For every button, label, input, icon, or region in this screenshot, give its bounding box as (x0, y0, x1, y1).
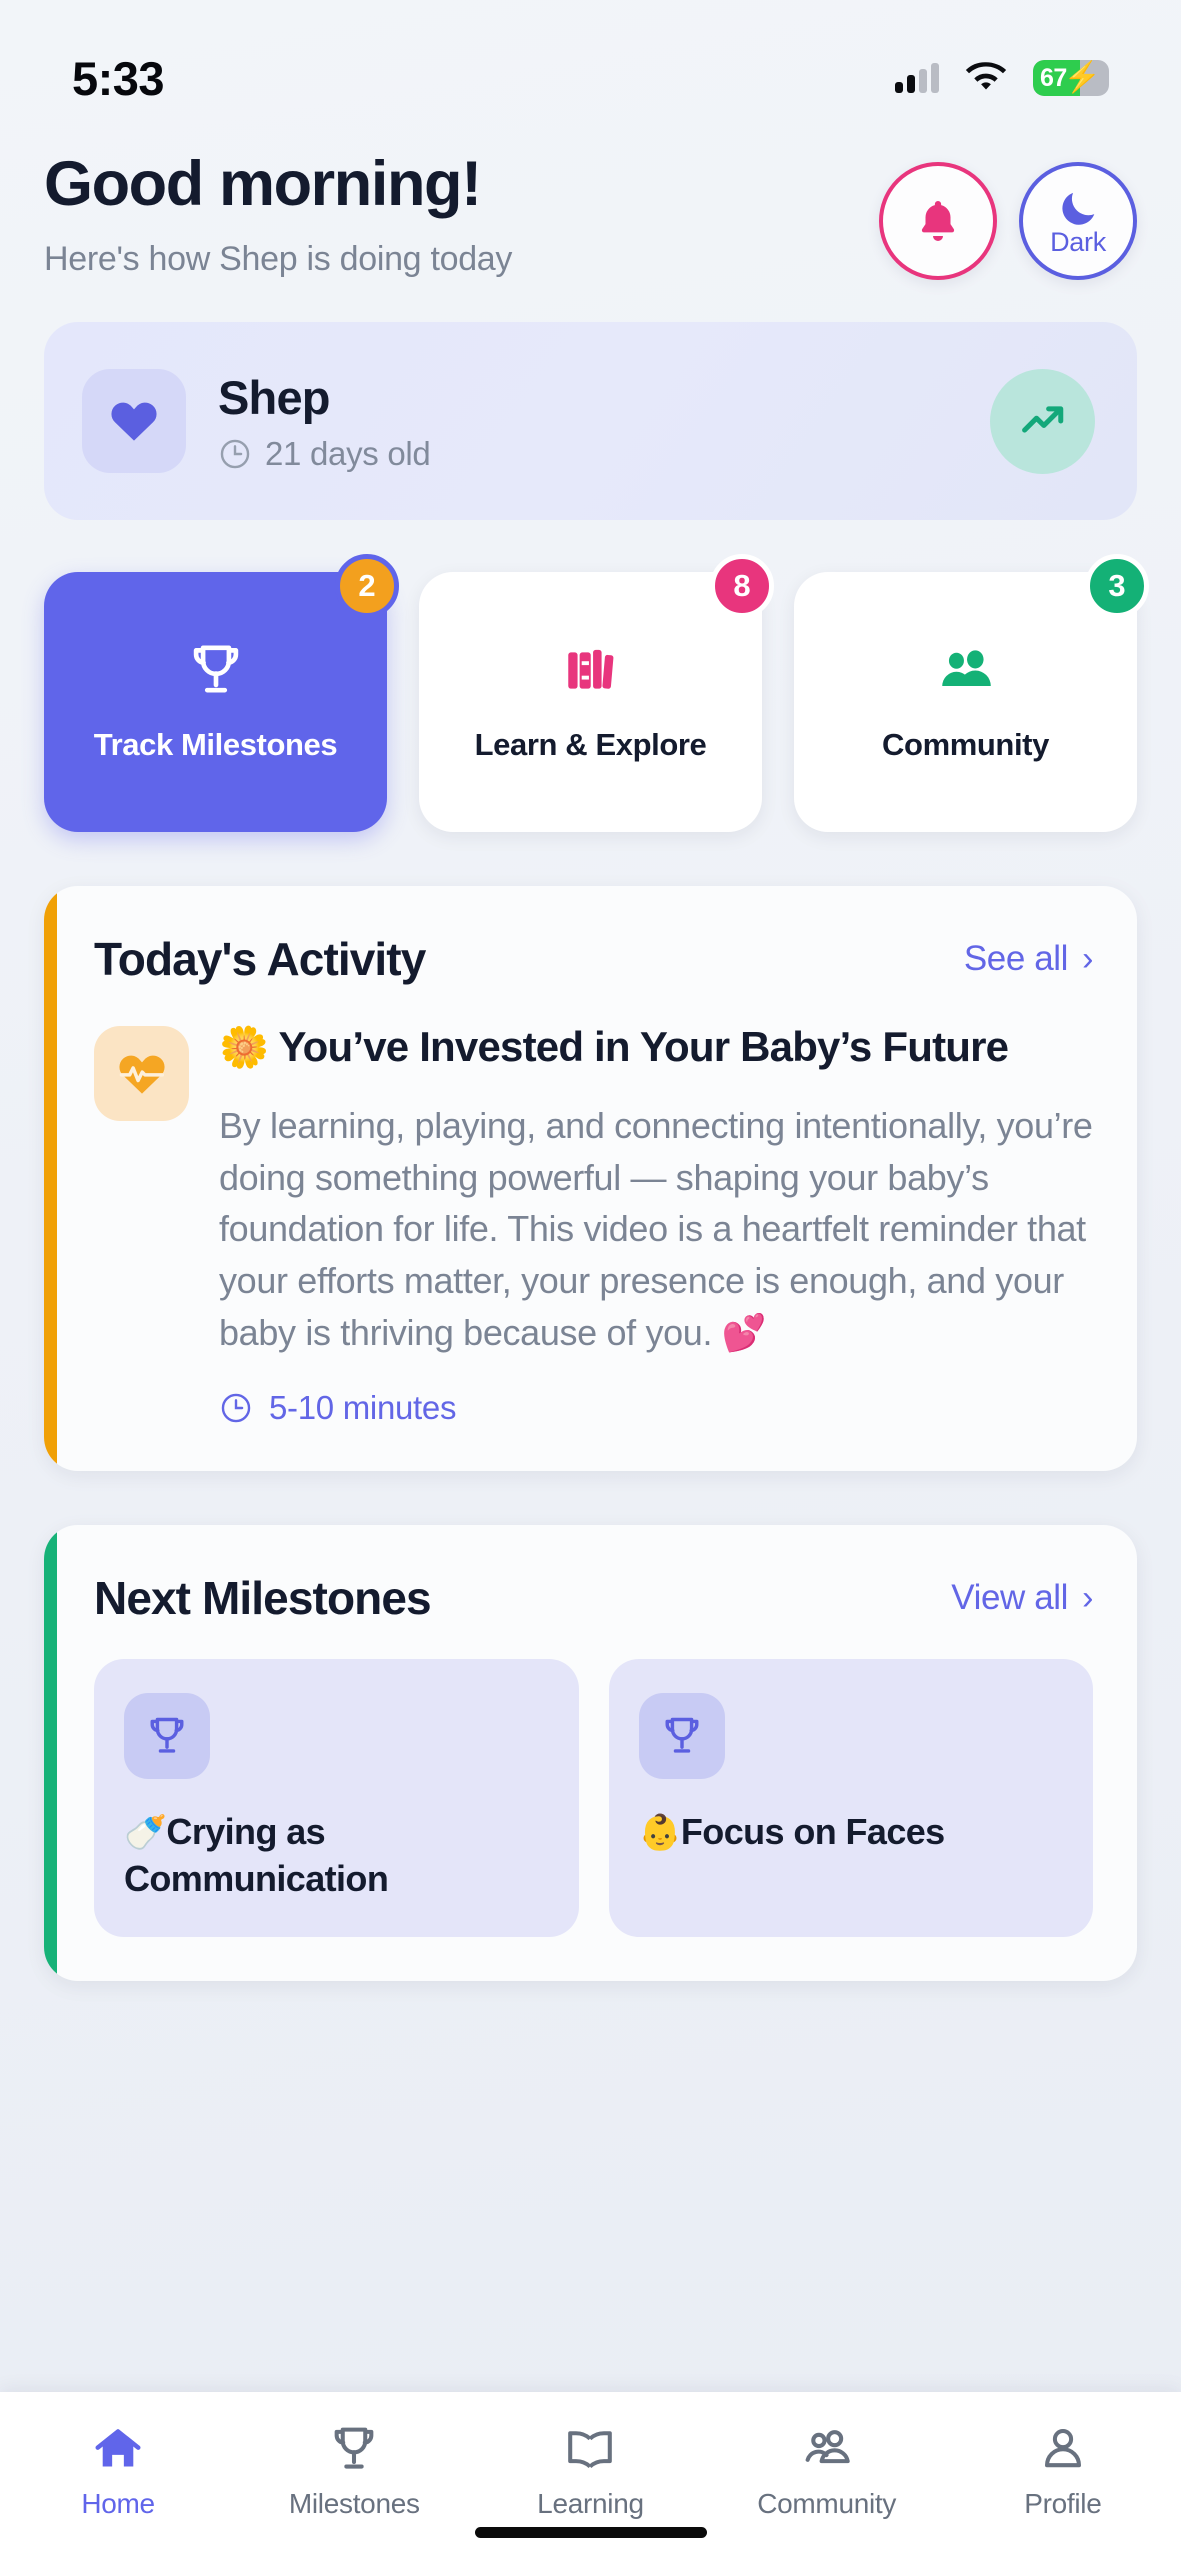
scroll-content[interactable]: Good morning! Here's how Shep is doing t… (0, 118, 1181, 2560)
milestone-card[interactable]: 👶Focus on Faces (609, 1659, 1094, 1937)
bottom-navigation: Home Milestones Learning Community (0, 2392, 1181, 2560)
chevron-right-icon: › (1082, 1581, 1093, 1615)
books-icon (560, 639, 622, 701)
status-bar: 5:33 67 ⚡ (0, 0, 1181, 118)
clock-icon (218, 437, 252, 471)
greeting-block: Good morning! Here's how Shep is doing t… (44, 150, 512, 279)
chevron-right-icon: › (1082, 942, 1093, 976)
app-screen: 5:33 67 ⚡ Good morning! Here's how Shep … (0, 0, 1181, 2560)
milestone-name: 👶Focus on Faces (639, 1809, 1064, 1856)
status-indicators: 67 ⚡ (895, 60, 1109, 96)
see-all-link[interactable]: See all › (964, 939, 1093, 979)
tab-community[interactable]: Community (727, 2422, 927, 2520)
home-icon (91, 2422, 145, 2476)
todays-activity-card: Today's Activity See all › 🌼 You’v (44, 886, 1137, 1471)
baby-age: 21 days old (218, 435, 958, 473)
activity-item[interactable]: 🌼 You’ve Invested in Your Baby’s Future … (94, 1020, 1093, 1427)
clock-icon (219, 1391, 253, 1425)
battery-percent: 67 (1033, 64, 1067, 93)
status-time: 5:33 (72, 51, 164, 106)
bell-icon (913, 196, 963, 246)
charging-bolt-icon: ⚡ (1064, 63, 1101, 93)
baby-meta: Shep 21 days old (218, 370, 958, 473)
section-title: Today's Activity (94, 932, 425, 986)
tab-profile[interactable]: Profile (963, 2422, 1163, 2520)
status-badge: 8 (710, 554, 774, 618)
person-icon (1036, 2422, 1090, 2476)
milestone-name-text: Focus on Faces (681, 1811, 945, 1852)
tab-label: Profile (1024, 2488, 1101, 2520)
header: Good morning! Here's how Shep is doing t… (44, 150, 1137, 280)
section-title: Next Milestones (94, 1571, 431, 1625)
activity-description: By learning, playing, and connecting int… (219, 1100, 1093, 1359)
quick-action-label: Track Milestones (94, 725, 337, 765)
baby-emoji: 👶 (639, 1814, 681, 1852)
notifications-button[interactable] (879, 162, 997, 280)
activity-duration-text: 5-10 minutes (269, 1389, 456, 1427)
quick-actions: 2 Track Milestones 8 Learn & Explore (44, 572, 1137, 832)
tab-milestones[interactable]: Milestones (254, 2422, 454, 2520)
dark-mode-label: Dark (1050, 227, 1106, 258)
status-badge: 2 (335, 554, 399, 618)
flower-emoji: 🌼 (219, 1024, 268, 1070)
page-subtitle: Here's how Shep is doing today (44, 240, 512, 279)
baby-age-text: 21 days old (265, 435, 431, 473)
baby-summary-card[interactable]: Shep 21 days old (44, 322, 1137, 520)
milestone-name: 🍼Crying as Communication (124, 1809, 549, 1903)
view-all-link[interactable]: View all › (951, 1578, 1093, 1618)
quick-action-community[interactable]: 3 Community (794, 572, 1137, 832)
milestone-list: 🍼Crying as Communication 👶Focus on Faces (94, 1659, 1093, 1937)
trophy-icon (327, 2422, 381, 2476)
baby-name: Shep (218, 370, 958, 425)
heart-icon (82, 369, 186, 473)
trending-up-icon (990, 369, 1095, 474)
activity-title: 🌼 You’ve Invested in Your Baby’s Future (219, 1020, 1093, 1074)
wifi-icon (965, 62, 1007, 94)
section-header: Next Milestones View all › (94, 1571, 1093, 1625)
view-all-label: View all (951, 1578, 1068, 1618)
tab-label: Home (81, 2488, 155, 2520)
cellular-signal-icon (895, 63, 939, 93)
quick-action-track-milestones[interactable]: 2 Track Milestones (44, 572, 387, 832)
page-title: Good morning! (44, 150, 512, 218)
book-open-icon (563, 2422, 617, 2476)
activity-body: 🌼 You’ve Invested in Your Baby’s Future … (219, 1020, 1093, 1427)
dark-mode-toggle[interactable]: Dark (1019, 162, 1137, 280)
tab-home[interactable]: Home (18, 2422, 218, 2520)
quick-action-learn-explore[interactable]: 8 Learn & Explore (419, 572, 762, 832)
tab-learning[interactable]: Learning (490, 2422, 690, 2520)
people-icon (935, 639, 997, 701)
section-header: Today's Activity See all › (94, 932, 1093, 986)
tab-label: Learning (537, 2488, 644, 2520)
quick-action-label: Community (882, 725, 1049, 765)
bottle-emoji: 🍼 (124, 1814, 166, 1852)
trophy-icon (185, 639, 247, 701)
activity-title-text: You’ve Invested in Your Baby’s Future (279, 1023, 1009, 1070)
see-all-label: See all (964, 939, 1068, 979)
battery-icon: 67 ⚡ (1033, 60, 1109, 96)
tab-label: Community (757, 2488, 896, 2520)
heart-pulse-icon (94, 1026, 189, 1121)
home-indicator (475, 2527, 707, 2538)
header-actions: Dark (879, 162, 1137, 280)
people-icon (800, 2422, 854, 2476)
milestone-card[interactable]: 🍼Crying as Communication (94, 1659, 579, 1937)
quick-action-label: Learn & Explore (475, 725, 707, 765)
activity-duration: 5-10 minutes (219, 1389, 1093, 1427)
status-badge: 3 (1085, 554, 1149, 618)
trophy-icon (124, 1693, 210, 1779)
moon-icon (1055, 185, 1101, 231)
next-milestones-card: Next Milestones View all › 🍼Crying as C (44, 1525, 1137, 1981)
tab-label: Milestones (289, 2488, 420, 2520)
trophy-icon (639, 1693, 725, 1779)
